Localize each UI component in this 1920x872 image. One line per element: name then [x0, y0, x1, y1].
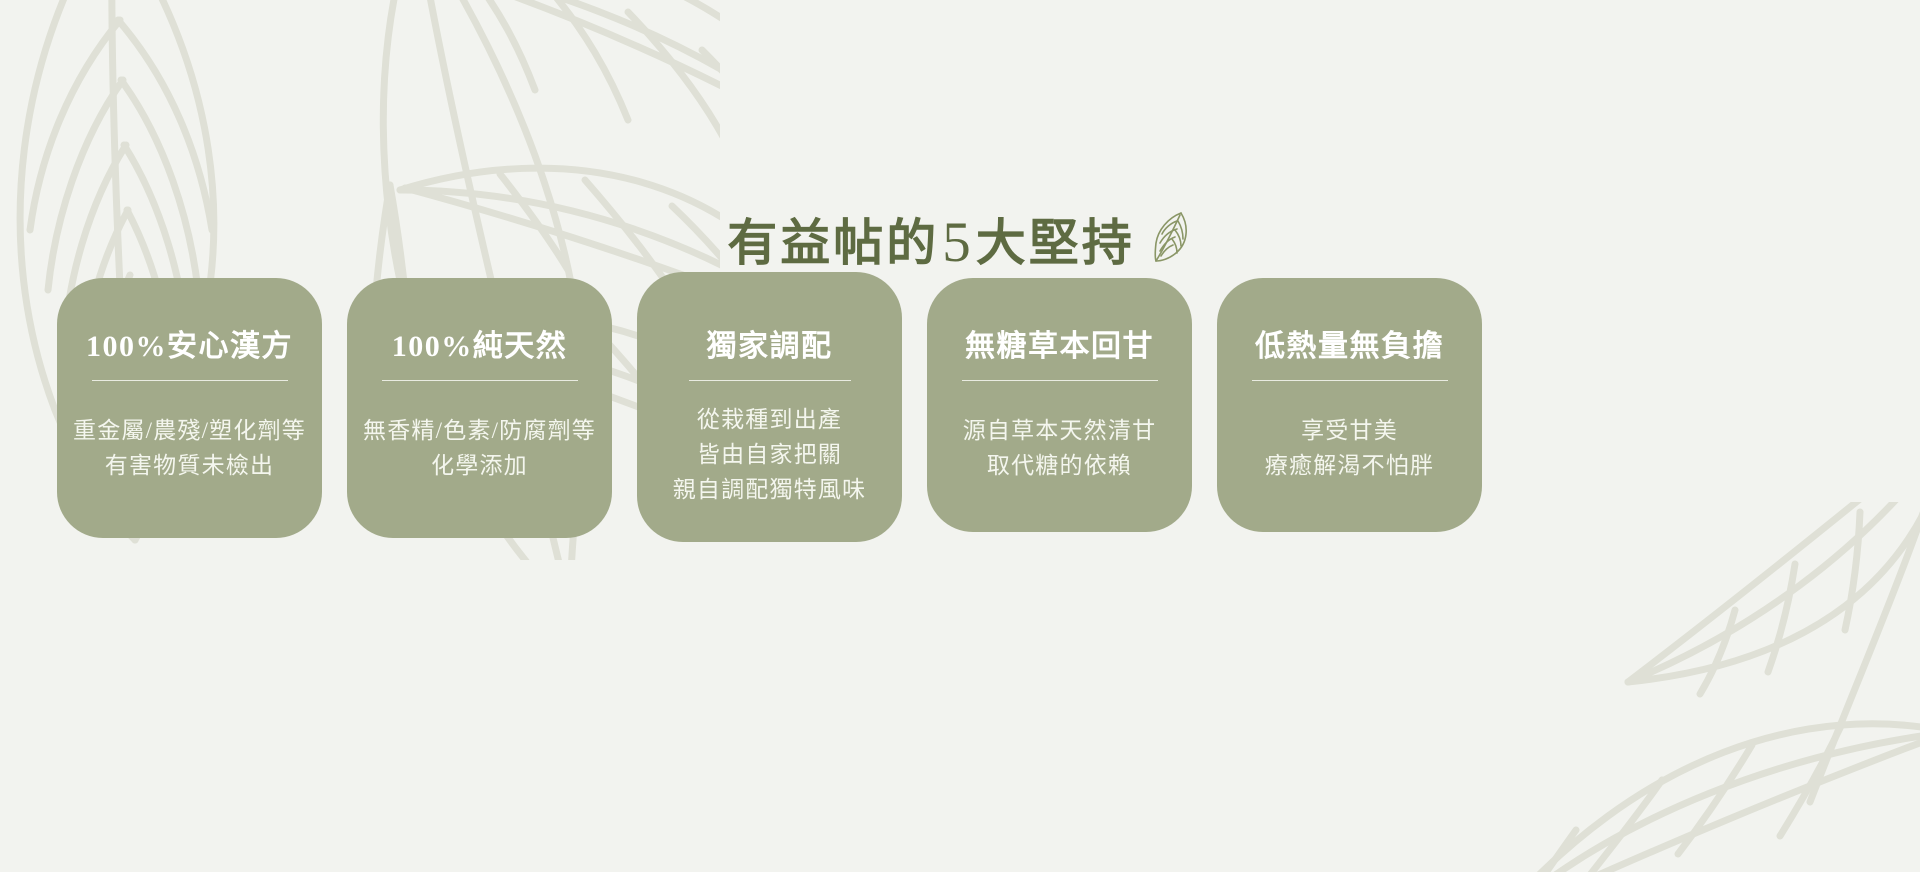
feature-card-body: 享受甘美 療癒解渴不怕胖	[1265, 414, 1434, 484]
feature-card-heading: 100%安心漢方	[86, 330, 293, 363]
feature-card[interactable]: 獨家調配 從栽種到出產 皆由自家把關 親自調配獨特風味	[637, 272, 902, 542]
feature-card-divider	[382, 380, 578, 381]
feature-card-body: 重金屬/農殘/塑化劑等 有害物質未檢出	[73, 414, 306, 484]
feature-card-divider	[689, 380, 851, 381]
feature-card-divider	[92, 380, 288, 381]
feature-card-body-line: 化學添加	[363, 449, 596, 484]
feature-card-body-line: 享受甘美	[1265, 414, 1434, 449]
feature-card-body: 源自草本天然清甘 取代糖的依賴	[963, 414, 1157, 484]
feature-card[interactable]: 低熱量無負擔 享受甘美 療癒解渴不怕胖	[1217, 278, 1482, 532]
page-title-number: 5	[939, 214, 976, 271]
page-root: 有益帖的5大堅持 100%安心漢方 重金屬/農殘/塑化劑等 有害物質未檢出	[0, 0, 1920, 872]
feature-card[interactable]: 100%純天然 無香精/色素/防腐劑等 化學添加	[347, 278, 612, 538]
feature-card-body-line: 療癒解渴不怕胖	[1265, 449, 1434, 484]
feature-card-list: 100%安心漢方 重金屬/農殘/塑化劑等 有害物質未檢出 100%純天然 無香精…	[0, 0, 1920, 872]
page-title-prefix: 有益帖的	[727, 218, 939, 268]
feature-card-body-line: 親自調配獨特風味	[673, 473, 867, 508]
feature-card[interactable]: 無糖草本回甘 源自草本天然清甘 取代糖的依賴	[927, 278, 1192, 532]
feature-card-body-line: 重金屬/農殘/塑化劑等	[73, 414, 306, 449]
feature-card-body-line: 有害物質未檢出	[73, 449, 306, 484]
feature-card-heading: 獨家調配	[707, 330, 833, 363]
feature-card-body-line: 源自草本天然清甘	[963, 414, 1157, 449]
feature-card-divider	[962, 380, 1158, 381]
feature-card-body-line: 皆由自家把關	[673, 438, 867, 473]
feature-card-divider	[1252, 380, 1448, 381]
page-title: 有益帖的5大堅持	[0, 214, 1920, 271]
feature-card-body: 從栽種到出產 皆由自家把關 親自調配獨特風味	[673, 403, 867, 508]
feature-card-body-line: 無香精/色素/防腐劑等	[363, 414, 596, 449]
feature-card-body-line: 從栽種到出產	[673, 403, 867, 438]
feature-card-body-line: 取代糖的依賴	[963, 449, 1157, 484]
leaf-icon	[1147, 210, 1193, 269]
feature-card-heading: 無糖草本回甘	[965, 330, 1154, 363]
feature-card-heading: 100%純天然	[392, 330, 568, 363]
feature-card-body: 無香精/色素/防腐劑等 化學添加	[363, 414, 596, 484]
page-title-suffix: 大堅持	[976, 218, 1135, 268]
feature-card[interactable]: 100%安心漢方 重金屬/農殘/塑化劑等 有害物質未檢出	[57, 278, 322, 538]
feature-card-heading: 低熱量無負擔	[1255, 330, 1444, 363]
